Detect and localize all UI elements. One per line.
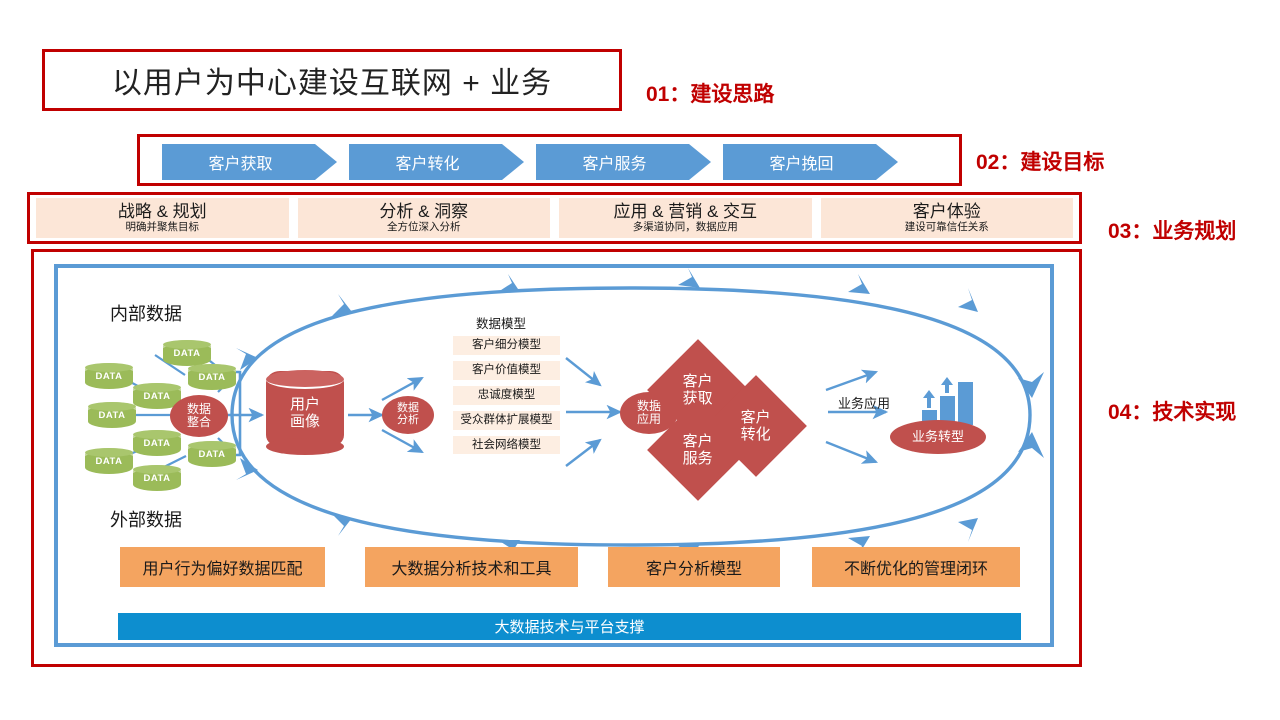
internal-data-label: 内部数据 [110, 300, 182, 326]
technical-diagram: 内部数据 外部数据 DATA DATA DATA DATA DATA DATA … [0, 0, 1280, 720]
foundation-box-behavior-matching[interactable]: 用户行为偏好数据匹配 [120, 547, 325, 587]
foundation-box-optimization-loop[interactable]: 不断优化的管理闭环 [812, 547, 1020, 587]
external-data-label: 外部数据 [110, 506, 182, 532]
diamond-line-2: 服务 [683, 449, 713, 466]
data-cylinder-icon: DATA [133, 465, 181, 491]
data-cylinder-icon: DATA [188, 364, 236, 390]
model-item-loyalty[interactable]: 忠诚度模型 [453, 386, 560, 405]
portrait-line-2: 画像 [290, 414, 320, 431]
user-portrait-node: 用户 画像 [266, 371, 344, 447]
slide-canvas: 以用户为中心建设互联网 + 业务 01：建设思路 客户获取 客户转化 客户服务 … [0, 0, 1280, 720]
data-integration-node: 数据 整合 [170, 395, 228, 437]
integration-line-2: 整合 [187, 416, 211, 429]
foundation-box-bigdata-tools[interactable]: 大数据分析技术和工具 [365, 547, 578, 587]
portrait-line-1: 用户 [290, 397, 320, 414]
data-cylinder-icon: DATA [88, 402, 136, 428]
data-cylinder-icon: DATA [163, 340, 211, 366]
model-item-segmentation[interactable]: 客户细分模型 [453, 336, 560, 355]
data-cylinder-icon: DATA [188, 441, 236, 467]
diamond-line-1: 客户 [741, 408, 771, 425]
foundation-box-analysis-model[interactable]: 客户分析模型 [608, 547, 780, 587]
business-application-label: 业务应用 [838, 393, 890, 412]
business-transformation-node: 业务转型 [890, 420, 986, 454]
application-line-2: 应用 [637, 413, 661, 426]
models-title: 数据模型 [476, 313, 526, 332]
diamond-line-1: 客户 [683, 432, 713, 449]
platform-support-bar: 大数据技术与平台支撑 [118, 613, 1021, 640]
data-cylinder-icon: DATA [85, 363, 133, 389]
models-list: 客户细分模型 客户价值模型 忠诚度模型 受众群体扩展模型 社会网络模型 [453, 336, 560, 460]
model-item-social-network[interactable]: 社会网络模型 [453, 436, 560, 455]
analysis-line-2: 分析 [397, 415, 419, 427]
data-cylinder-icon: DATA [133, 430, 181, 456]
diamond-line-1: 客户 [683, 372, 713, 389]
data-analysis-node: 数据 分析 [382, 396, 434, 434]
data-cylinder-icon: DATA [85, 448, 133, 474]
model-item-audience-expansion[interactable]: 受众群体扩展模型 [453, 411, 560, 430]
model-item-value[interactable]: 客户价值模型 [453, 361, 560, 380]
diamond-line-2: 转化 [741, 425, 771, 442]
